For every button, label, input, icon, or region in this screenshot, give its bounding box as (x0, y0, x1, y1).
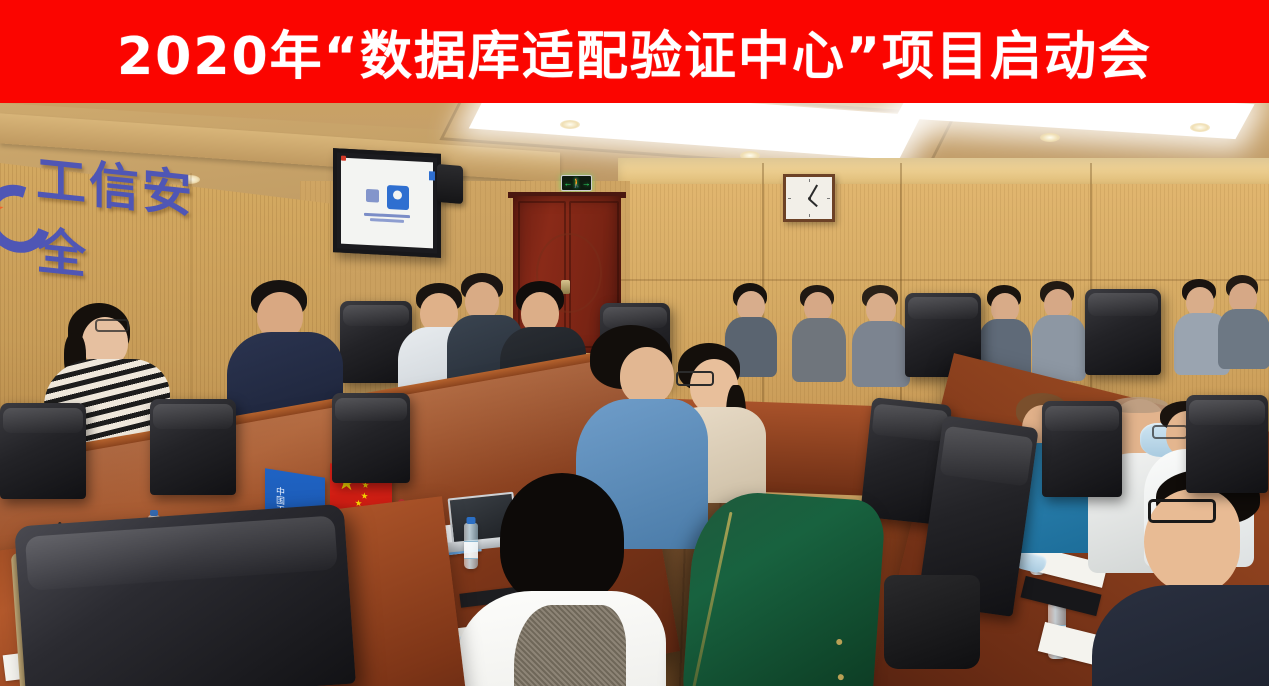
slide-logo-icon (366, 189, 379, 203)
eyeglasses-icon (1152, 425, 1188, 439)
downlight-icon (1040, 133, 1060, 142)
wall-sign-text: 工信安全 (36, 139, 220, 302)
office-chair-foreground (14, 504, 356, 686)
screenshot-root: 2020年“数据库适配验证中心”项目启动会 工 (0, 0, 1269, 686)
emergency-exit-icon: ←🚶→ (561, 175, 592, 191)
office-chair (1085, 289, 1161, 375)
water-bottle (464, 523, 478, 569)
company-logo-icon (0, 180, 36, 237)
office-chair (0, 403, 86, 499)
wall-speaker (437, 164, 463, 204)
office-chair (1042, 401, 1122, 497)
downlight-icon (1190, 123, 1210, 132)
screen-indicator-icon (341, 156, 346, 161)
eyeglasses-icon (1148, 499, 1216, 523)
wall-clock (783, 174, 835, 222)
green-coat-on-chair (680, 489, 886, 686)
office-chair (150, 399, 236, 495)
backpack (884, 575, 980, 669)
office-chair (1186, 395, 1268, 493)
eyeglasses-icon (95, 319, 129, 332)
office-chair (332, 393, 410, 483)
eyeglasses-icon (676, 371, 714, 386)
downlight-icon (560, 120, 580, 129)
slide-caption-line (364, 212, 410, 217)
presentation-screen (333, 148, 441, 258)
meeting-photograph: 工信安全 ←🚶→ (0, 103, 1269, 686)
slide-caption-line (370, 218, 404, 223)
wall-seam (620, 279, 1269, 281)
event-banner: 2020年“数据库适配验证中心”项目启动会 (0, 0, 1269, 103)
wall-seam (1090, 163, 1092, 413)
banner-title: 2020年“数据库适配验证中心”项目启动会 (117, 14, 1152, 89)
slide-logo-icon (387, 184, 409, 209)
screen-indicator-icon (429, 171, 435, 180)
wall-soffit (618, 158, 1269, 184)
